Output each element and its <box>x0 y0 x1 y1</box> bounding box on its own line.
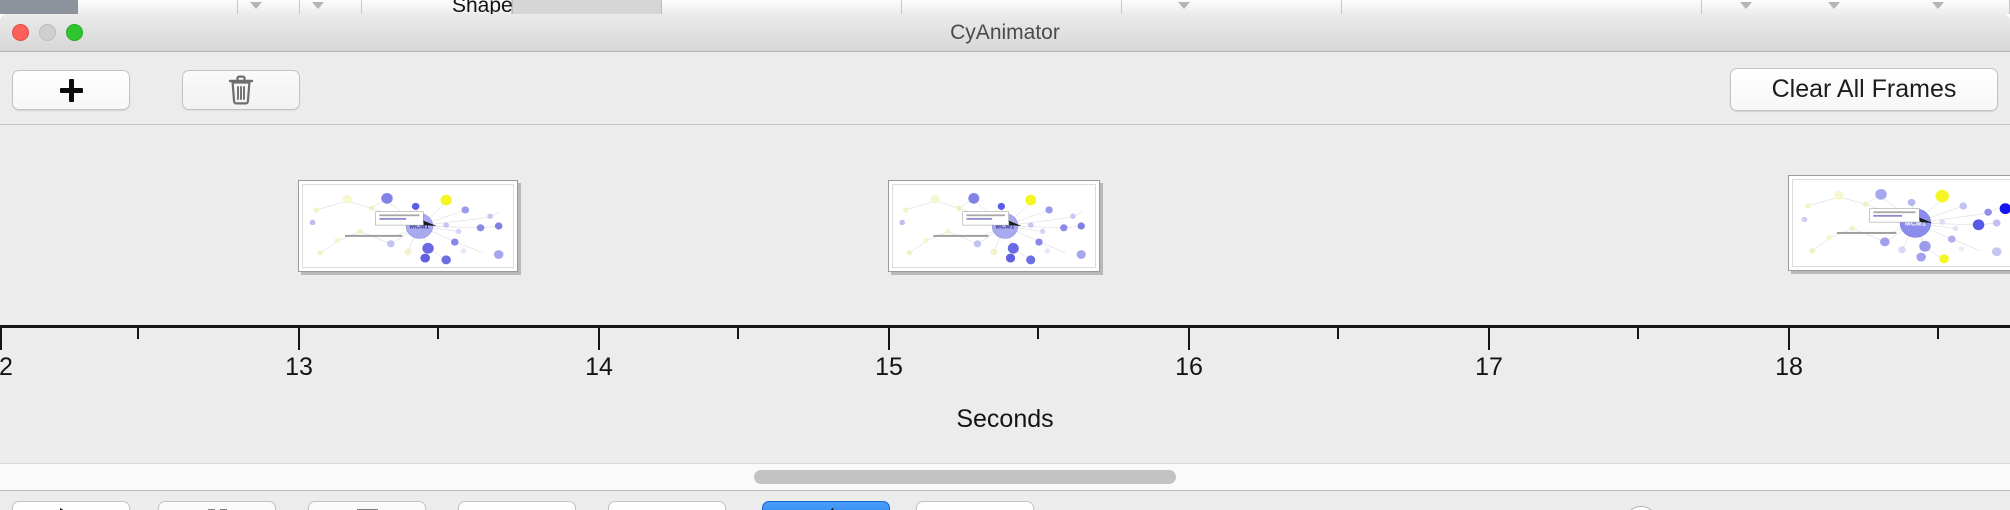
chevron-down-icon <box>1178 2 1190 9</box>
add-frame-button[interactable] <box>12 70 130 110</box>
background-segment <box>300 0 362 14</box>
axis-line <box>0 325 2010 328</box>
clear-all-frames-button[interactable]: Clear All Frames <box>1730 68 1998 111</box>
background-dark-tab <box>0 0 78 14</box>
trash-icon <box>228 75 254 105</box>
axis-tick-label: 17 <box>1475 353 1503 382</box>
axis-tick-minor <box>737 328 739 339</box>
timeline-frame-3[interactable]: MCM1 <box>1788 175 2010 271</box>
delete-frame-button[interactable] <box>182 70 300 110</box>
axis-tick-minor <box>1037 328 1039 339</box>
skip-start-button[interactable] <box>458 501 576 510</box>
timeline-scrollbar[interactable] <box>0 463 2010 491</box>
timeline-frame-2[interactable]: MCM1 <box>888 180 1100 272</box>
background-segment <box>662 0 902 14</box>
background-segment <box>238 0 300 14</box>
loop-button[interactable] <box>762 501 890 510</box>
skip-end-button[interactable] <box>608 501 726 510</box>
clear-all-frames-label: Clear All Frames <box>1772 75 1957 104</box>
timeline-frame-1[interactable]: MCM1 <box>298 180 518 272</box>
chevron-down-icon <box>1740 2 1752 9</box>
window-title: CyAnimator <box>0 21 2010 45</box>
background-segment <box>78 0 238 14</box>
axis-tick-major <box>888 328 890 350</box>
plus-icon <box>60 79 83 102</box>
frame-thumbnail-3: MCM1 <box>1792 179 2010 267</box>
timeline-frames: MCM1 <box>0 125 2010 325</box>
slider-thumb[interactable] <box>1625 506 1657 510</box>
frame-toolbar: Clear All Frames <box>0 52 2010 125</box>
axis-tick-major <box>298 328 300 350</box>
axis-tick-major <box>598 328 600 350</box>
chevron-down-icon <box>250 2 262 9</box>
network-graph-thumbnail: MCM1 <box>1793 180 2010 266</box>
scrollbar-thumb[interactable] <box>754 470 1176 484</box>
window-titlebar: CyAnimator <box>0 14 2010 52</box>
axis-title: Seconds <box>0 405 2010 434</box>
background-partial-label: Shape <box>452 0 513 14</box>
stop-button[interactable] <box>308 501 426 510</box>
axis-tick-minor <box>1637 328 1639 339</box>
axis-tick-label: 15 <box>875 353 903 382</box>
axis-tick-label: 14 <box>585 353 613 382</box>
axis-tick-label: 13 <box>285 353 313 382</box>
axis-tick-label: 2 <box>0 353 13 382</box>
axis-tick-major <box>0 328 2 350</box>
chevron-down-icon <box>1932 2 1944 9</box>
play-button[interactable] <box>12 501 130 510</box>
timeline-panel: MCM1 <box>0 125 2010 463</box>
axis-tick-minor <box>1937 328 1939 339</box>
axis-tick-minor <box>437 328 439 339</box>
background-gray-box <box>512 0 662 14</box>
axis-tick-minor <box>1337 328 1339 339</box>
background-segment <box>1342 0 1702 14</box>
frame-thumbnail-1: MCM1 <box>302 184 514 268</box>
axis-tick-major <box>1488 328 1490 350</box>
record-button[interactable] <box>916 501 1034 510</box>
frame-thumbnail-2: MCM1 <box>892 184 1096 268</box>
background-segment <box>902 0 1122 14</box>
timeline-axis: 2 13 14 15 16 17 18 Seconds <box>0 325 2010 463</box>
axis-tick-label: 16 <box>1175 353 1203 382</box>
pause-button[interactable] <box>158 501 276 510</box>
network-graph-thumbnail: MCM1 <box>303 185 513 267</box>
axis-tick-label: 18 <box>1775 353 1803 382</box>
axis-tick-major <box>1188 328 1190 350</box>
chevron-down-icon <box>1828 2 1840 9</box>
loop-icon <box>811 506 841 510</box>
background-window-strip: Shape <box>0 0 2010 14</box>
playback-controls: Animation Speed: <box>0 491 2010 510</box>
cyanimator-screen: Shape CyAnimator <box>0 0 2010 510</box>
background-segment <box>1122 0 1342 14</box>
network-graph-thumbnail: MCM1 <box>893 185 1095 267</box>
chevron-down-icon <box>312 2 324 9</box>
axis-tick-minor <box>137 328 139 339</box>
cyanimator-window: CyAnimator Clear All Frames <box>0 14 2010 510</box>
axis-tick-major <box>1788 328 1790 350</box>
